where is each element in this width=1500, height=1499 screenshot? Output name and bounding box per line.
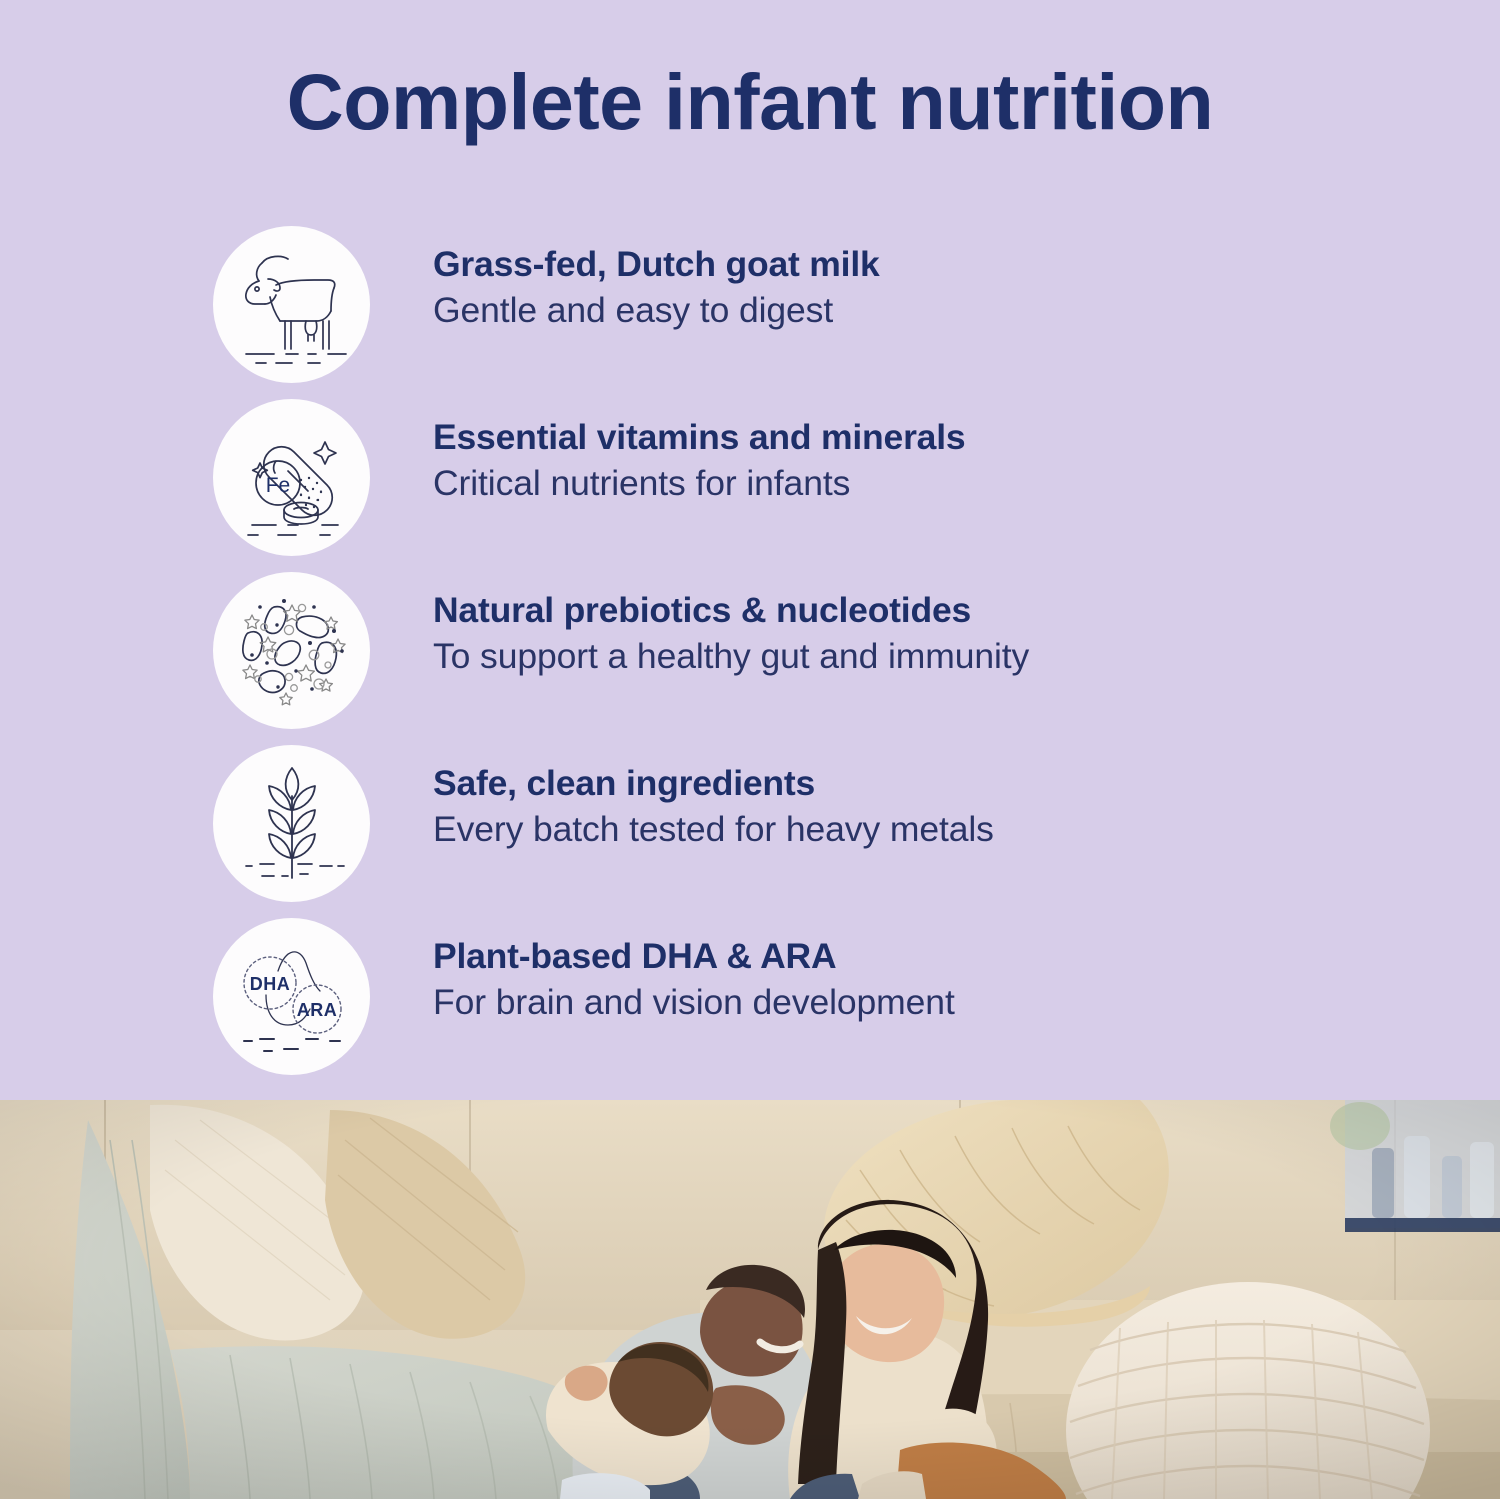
feature-text-block: Plant-based DHA & ARA For brain and visi… — [433, 933, 1453, 1026]
feature-text-block: Grass-fed, Dutch goat milk Gentle and ea… — [433, 241, 1453, 334]
feature-list: Grass-fed, Dutch goat milk Gentle and ea… — [0, 219, 1500, 1084]
feature-text-block: Essential vitamins and minerals Critical… — [433, 414, 1453, 507]
wheat-stalk-icon — [213, 745, 370, 902]
feature-headline: Grass-fed, Dutch goat milk — [433, 241, 1453, 287]
svg-text:DHA: DHA — [249, 974, 290, 994]
svg-text:ARA: ARA — [296, 1000, 337, 1020]
feature-headline: Plant-based DHA & ARA — [433, 933, 1453, 979]
feature-subtext: Gentle and easy to digest — [433, 287, 1453, 334]
feature-headline: Essential vitamins and minerals — [433, 414, 1453, 460]
feature-subtext: Critical nutrients for infants — [433, 460, 1453, 507]
feature-row: Natural prebiotics & nucleotides To supp… — [0, 565, 1500, 738]
feature-row: Safe, clean ingredients Every batch test… — [0, 738, 1500, 911]
svg-text:Fe: Fe — [265, 474, 290, 497]
goat-icon — [213, 226, 370, 383]
feature-subtext: Every batch tested for heavy metals — [433, 806, 1453, 853]
feature-text-block: Safe, clean ingredients Every batch test… — [433, 760, 1453, 853]
feature-text-block: Natural prebiotics & nucleotides To supp… — [433, 587, 1453, 680]
feature-row: Fe Essential vi — [0, 392, 1500, 565]
product-feature-poster: Complete infant nutrition — [0, 0, 1500, 1499]
page-title: Complete infant nutrition — [0, 62, 1500, 141]
lifestyle-photo — [0, 1100, 1500, 1499]
probiotic-bacteria-icon — [213, 572, 370, 729]
feature-row: Grass-fed, Dutch goat milk Gentle and ea… — [0, 219, 1500, 392]
feature-row: DHA ARA Plant-based DHA & — [0, 911, 1500, 1084]
vitamin-capsule-icon: Fe — [213, 399, 370, 556]
feature-headline: Natural prebiotics & nucleotides — [433, 587, 1453, 633]
feature-subtext: For brain and vision development — [433, 979, 1453, 1026]
dha-ara-molecule-icon: DHA ARA — [213, 918, 370, 1075]
feature-headline: Safe, clean ingredients — [433, 760, 1453, 806]
feature-subtext: To support a healthy gut and immunity — [433, 633, 1453, 680]
